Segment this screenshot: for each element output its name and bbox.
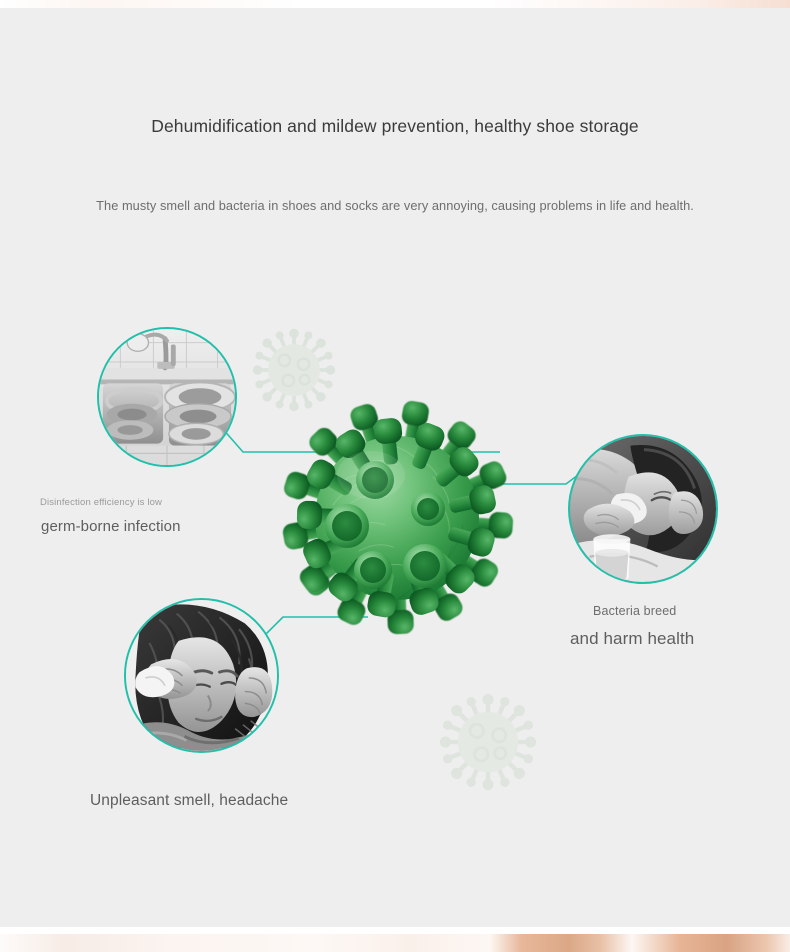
callout-photo-germ-borne-infection[interactable] — [97, 327, 237, 467]
callout-label-bacteria-breed: Bacteria breed — [593, 604, 676, 618]
product-infographic-page: Dehumidification and mildew prevention, … — [0, 0, 790, 952]
faint-virus-icon-bottom — [432, 686, 544, 798]
callout-photo-bacteria-breed[interactable] — [568, 434, 718, 584]
callout-label-disinfection-efficiency: Disinfection efficiency is low — [40, 497, 162, 508]
top-bleed-strip — [0, 0, 790, 8]
central-virus-graphic — [247, 385, 547, 655]
page-title: Dehumidification and mildew prevention, … — [0, 116, 790, 137]
sick-woman-blowing-nose-in-bed-photo — [570, 436, 716, 582]
bottom-bleed-strip — [0, 934, 790, 952]
callout-label-unpleasant-smell-headache: Unpleasant smell, headache — [90, 792, 288, 810]
callout-photo-unpleasant-smell-headache[interactable] — [124, 598, 279, 753]
callout-label-harm-health: and harm health — [570, 629, 694, 649]
page-subtitle: The musty smell and bacteria in shoes an… — [0, 198, 790, 213]
woman-with-headache-holding-head-photo — [126, 600, 277, 751]
kitchen-sink-dirty-dishes-photo — [99, 329, 235, 465]
callout-label-germ-borne-infection: germ-borne infection — [41, 518, 181, 535]
